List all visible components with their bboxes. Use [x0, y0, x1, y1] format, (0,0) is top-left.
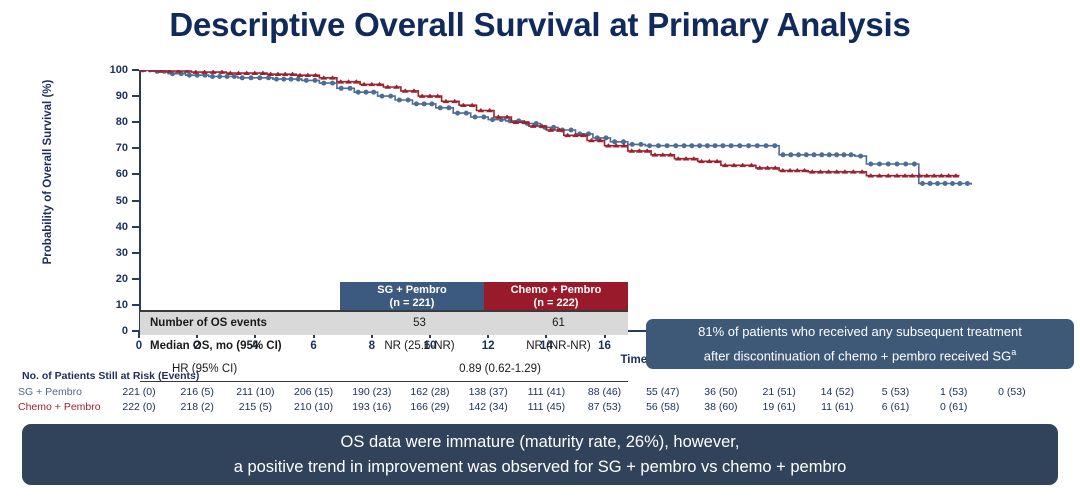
risk-cell: 6 (61)	[866, 401, 926, 413]
censor-marks-chemo-pembro	[140, 70, 959, 178]
censor-mark	[313, 78, 318, 83]
censor-mark	[764, 143, 769, 148]
risk-cell: 21 (51)	[749, 386, 809, 398]
censor-mark	[380, 94, 385, 99]
censor-mark	[217, 74, 222, 79]
header-chemo-pembro: Chemo + Pembro (n = 222)	[484, 282, 628, 310]
risk-cell: 1 (53)	[924, 386, 984, 398]
risk-cell: 206 (15)	[284, 386, 344, 398]
risk-cell: 142 (34)	[458, 401, 518, 413]
risk-cell: 19 (61)	[749, 401, 809, 413]
censor-mark	[877, 162, 882, 167]
censor-mark	[429, 101, 434, 106]
censor-mark	[296, 77, 301, 82]
page-title: Descriptive Overall Survival at Primary …	[0, 6, 1080, 44]
censor-mark	[210, 74, 215, 79]
y-tick-label: 60	[94, 169, 128, 179]
censor-mark	[868, 162, 873, 167]
censor-mark	[705, 143, 710, 148]
censor-mark	[781, 152, 786, 157]
y-tick	[132, 278, 139, 280]
risk-cell: 166 (29)	[400, 401, 460, 413]
censor-mark	[858, 154, 863, 159]
y-tick-label: 40	[94, 222, 128, 232]
y-tick-label: 0	[94, 326, 128, 336]
row-value-median-sg: NR (25.6-NR)	[350, 340, 489, 352]
censor-mark	[928, 181, 933, 186]
censor-mark	[304, 78, 309, 83]
censor-mark	[388, 94, 393, 99]
survival-chart: Probability of Overall Survival (%) Time…	[0, 58, 1080, 368]
censor-mark	[257, 75, 262, 80]
y-axis-title: Probability of Overall Survival (%)	[42, 62, 54, 282]
censor-mark	[804, 152, 809, 157]
row-label-median-os: Median OS, mo (95% CI)	[140, 340, 350, 352]
risk-cell: 11 (61)	[807, 401, 867, 413]
y-tick-label: 20	[94, 274, 128, 284]
callout-line1: 81% of patients who received any subsequ…	[698, 324, 1022, 339]
risk-cell: 193 (16)	[342, 401, 402, 413]
table-row-hr: HR (95% CI) 0.89 (0.62-1.29)	[140, 358, 628, 381]
censor-mark	[604, 135, 609, 140]
y-tick-label: 100	[94, 65, 128, 75]
row-label-events: Number of OS events	[140, 317, 350, 329]
censor-mark	[965, 181, 970, 186]
censor-mark	[473, 115, 478, 120]
censor-mark	[281, 77, 286, 82]
censor-mark	[638, 142, 643, 147]
header-sg-n: (n = 221)	[340, 297, 484, 310]
censor-mark	[737, 143, 742, 148]
censor-mark	[406, 98, 411, 103]
risk-table-row-chemo: Chemo + Pembro 222 (0)218 (2)215 (5)210 …	[0, 401, 1080, 415]
censor-mark	[697, 143, 702, 148]
risk-cell: 56 (58)	[633, 401, 693, 413]
risk-cell: 14 (52)	[807, 386, 867, 398]
censor-mark	[339, 86, 344, 91]
censor-mark	[330, 81, 335, 86]
censor-mark	[755, 143, 760, 148]
censor-mark	[834, 152, 839, 157]
censor-mark	[819, 152, 824, 157]
censor-mark	[321, 81, 326, 86]
censor-mark	[266, 75, 271, 80]
censor-mark	[713, 143, 718, 148]
censor-mark	[788, 152, 793, 157]
censor-mark	[912, 162, 917, 167]
censor-mark	[187, 73, 192, 78]
censor-mark	[827, 152, 832, 157]
y-tick	[132, 252, 139, 254]
risk-cell: 111 (41)	[516, 386, 576, 398]
censor-mark	[397, 98, 402, 103]
censor-mark	[630, 142, 635, 147]
risk-cell: 38 (60)	[691, 401, 751, 413]
censor-mark	[240, 75, 245, 80]
row-value-hr: 0.89 (0.62-1.29)	[372, 363, 628, 375]
risk-cell: 138 (37)	[458, 386, 518, 398]
callout-footnote-marker: a	[1011, 347, 1016, 357]
censor-mark	[812, 152, 817, 157]
statistics-table: SG + Pembro (n = 221) Chemo + Pembro (n …	[140, 282, 628, 382]
y-tick	[132, 69, 139, 71]
censor-mark	[289, 77, 294, 82]
censor-mark	[422, 101, 427, 106]
y-tick	[132, 226, 139, 228]
risk-cell: 0 (53)	[982, 386, 1042, 398]
censor-mark	[935, 181, 940, 186]
risk-cell: 55 (47)	[633, 386, 693, 398]
censor-mark	[849, 152, 854, 157]
banner-line1: OS data were immature (maturity rate, 26…	[341, 433, 740, 451]
censor-mark	[665, 143, 670, 148]
header-chemo-name: Chemo + Pembro	[484, 284, 628, 297]
censor-mark	[673, 143, 678, 148]
risk-cell: 190 (23)	[342, 386, 402, 398]
row-value-median-chemo: NR (NR-NR)	[489, 340, 628, 352]
censor-mark	[950, 181, 955, 186]
summary-banner: OS data were immature (maturity rate, 26…	[22, 424, 1058, 485]
censor-mark	[920, 181, 925, 186]
censor-mark	[490, 117, 495, 122]
risk-cell: 0 (61)	[924, 401, 984, 413]
censor-mark	[446, 105, 451, 110]
censor-mark	[720, 143, 725, 148]
censor-mark	[414, 101, 419, 106]
y-tick-label: 90	[94, 91, 128, 101]
censor-mark	[682, 143, 687, 148]
risk-cell: 210 (10)	[284, 401, 344, 413]
table-row: Median OS, mo (95% CI) NR (25.6-NR) NR (…	[140, 335, 628, 358]
table-rule-bottom	[140, 381, 628, 382]
censor-mark	[689, 143, 694, 148]
censor-mark	[957, 181, 962, 186]
risk-cell: 218 (2)	[167, 401, 227, 413]
censor-mark	[796, 152, 801, 157]
censor-mark	[364, 90, 369, 95]
censor-mark	[371, 90, 376, 95]
risk-table-row-sg: SG + Pembro 221 (0)216 (5)211 (10)206 (1…	[0, 386, 1080, 400]
censor-marks-sg-pembro	[140, 70, 970, 186]
censor-mark	[772, 143, 777, 148]
risk-cell: 211 (10)	[225, 386, 285, 398]
km-curve-chemo-pembro	[139, 70, 960, 176]
y-tick-label: 70	[94, 143, 128, 153]
risk-cell: 221 (0)	[109, 386, 169, 398]
censor-mark	[841, 152, 846, 157]
censor-mark	[481, 115, 486, 120]
censor-mark	[438, 105, 443, 110]
risk-cell: 111 (45)	[516, 401, 576, 413]
risk-table-title: No. of Patients Still at Risk (Events)	[22, 370, 199, 382]
censor-mark	[895, 162, 900, 167]
header-sg-name: SG + Pembro	[340, 284, 484, 297]
statistics-table-header: SG + Pembro (n = 221) Chemo + Pembro (n …	[140, 282, 628, 310]
risk-cell: 222 (0)	[109, 401, 169, 413]
y-tick	[132, 173, 139, 175]
censor-mark	[943, 181, 948, 186]
risk-cell: 36 (50)	[691, 386, 751, 398]
table-row: Number of OS events 53 61	[140, 312, 628, 335]
censor-mark	[356, 90, 361, 95]
risk-cell: 88 (46)	[575, 386, 635, 398]
censor-mark	[249, 75, 254, 80]
y-tick	[132, 200, 139, 202]
risk-cell: 162 (28)	[400, 386, 460, 398]
callout-box: 81% of patients who received any subsequ…	[646, 319, 1074, 369]
risk-cell: 5 (53)	[866, 386, 926, 398]
risk-cell: 87 (53)	[575, 401, 635, 413]
censor-mark	[886, 162, 891, 167]
risk-cell: 216 (5)	[167, 386, 227, 398]
y-tick	[132, 304, 139, 306]
header-chemo-n: (n = 222)	[484, 297, 628, 310]
censor-mark	[746, 143, 751, 148]
censor-mark	[348, 86, 353, 91]
censor-mark	[569, 128, 574, 133]
y-tick	[132, 95, 139, 97]
header-spacer	[140, 282, 340, 310]
censor-mark	[656, 143, 661, 148]
y-tick-label: 50	[94, 196, 128, 206]
row-value-events-sg: 53	[350, 317, 489, 329]
banner-line2: a positive trend in improvement was obse…	[234, 458, 847, 476]
y-tick-label: 10	[94, 300, 128, 310]
censor-mark	[647, 143, 652, 148]
censor-mark	[464, 111, 469, 116]
censor-mark	[274, 77, 279, 82]
y-tick	[132, 147, 139, 149]
censor-mark	[729, 143, 734, 148]
censor-mark	[621, 139, 626, 144]
y-tick-label: 80	[94, 117, 128, 127]
censor-mark	[455, 111, 460, 116]
header-sg-pembro: SG + Pembro (n = 221)	[340, 282, 484, 310]
censor-mark	[903, 162, 908, 167]
row-value-events-chemo: 61	[489, 317, 628, 329]
callout-line2: after discontinuation of chemo + pembro …	[704, 349, 1011, 364]
y-tick	[132, 121, 139, 123]
risk-cell: 215 (5)	[225, 401, 285, 413]
y-tick-label: 30	[94, 248, 128, 258]
